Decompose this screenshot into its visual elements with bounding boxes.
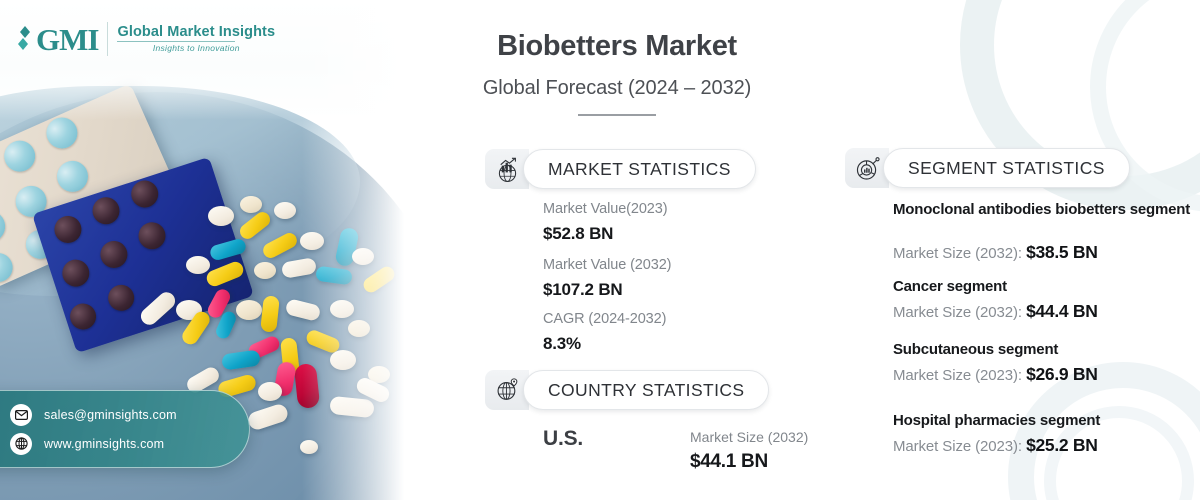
- country-statistics-pill: COUNTRY STATISTICS: [523, 370, 769, 410]
- segment-1-title: Cancer segment: [893, 278, 1193, 296]
- page-subtitle: Global Forecast (2024 – 2032): [452, 77, 782, 100]
- contact-email: sales@gminsights.com: [44, 408, 177, 422]
- country-name: U.S.: [543, 427, 583, 451]
- title-block: Biobetters Market Global Forecast (2024 …: [452, 30, 782, 116]
- segment-2-value: $26.9 BN: [1026, 364, 1098, 384]
- segment-0-title: Monoclonal antibodies biobetters segment: [893, 201, 1193, 219]
- contact-website-row[interactable]: www.gminsights.com: [10, 433, 229, 455]
- brand-name: Global Market Insights: [117, 25, 275, 41]
- contact-badge: sales@gminsights.com www.gminsights.com: [0, 390, 250, 468]
- logo-divider: [107, 22, 108, 56]
- page-title: Biobetters Market: [452, 30, 782, 63]
- market-value-2023-label: Market Value(2023): [543, 201, 667, 217]
- market-value-2032-label: Market Value (2032): [543, 257, 671, 273]
- infographic-canvas: sales@gminsights.com www.gminsights.com …: [0, 0, 1200, 500]
- market-statistics-pill: MARKET STATISTICS: [523, 149, 756, 189]
- segment-3-label: Market Size (2023):: [893, 438, 1026, 455]
- gmi-logo[interactable]: GMI Global Market Insights Insights to I…: [16, 22, 275, 56]
- cagr-value: 8.3%: [543, 334, 581, 354]
- segment-2-label: Market Size (2023):: [893, 367, 1026, 384]
- market-statistics-heading: MARKET STATISTICS: [548, 159, 731, 180]
- globe-icon: [10, 433, 32, 455]
- photo-right-fade: [302, 0, 452, 500]
- brand-rule: [117, 41, 235, 42]
- country-statistics-header: COUNTRY STATISTICS: [485, 370, 769, 410]
- segment-statistics-header: SEGMENT STATISTICS: [845, 148, 1130, 188]
- segment-1-label: Market Size (2032):: [893, 304, 1026, 321]
- gmi-logo-mark: GMI: [16, 24, 98, 55]
- market-value-2032-value: $107.2 BN: [543, 280, 622, 300]
- segment-statistics-pill: SEGMENT STATISTICS: [883, 148, 1130, 188]
- segment-2-line: Market Size (2023): $26.9 BN: [893, 364, 1098, 385]
- segment-1-line: Market Size (2032): $44.4 BN: [893, 301, 1098, 322]
- market-statistics-header: MARKET STATISTICS: [485, 149, 756, 189]
- contact-website: www.gminsights.com: [44, 437, 164, 451]
- country-statistics-heading: COUNTRY STATISTICS: [548, 380, 744, 401]
- gmi-wordmark: GMI: [36, 24, 98, 55]
- country-market-size-value: $44.1 BN: [690, 451, 768, 473]
- brand-tagline: Insights to Innovation: [117, 43, 275, 53]
- market-value-2023-value: $52.8 BN: [543, 224, 613, 244]
- segment-1-value: $44.4 BN: [1026, 301, 1098, 321]
- segment-3-value: $25.2 BN: [1026, 435, 1098, 455]
- segment-statistics-heading: SEGMENT STATISTICS: [908, 158, 1105, 179]
- cagr-label: CAGR (2024-2032): [543, 311, 666, 327]
- gmi-diamond-icon: [16, 24, 36, 54]
- segment-0-label: Market Size (2032):: [893, 245, 1026, 262]
- title-divider: [578, 114, 656, 116]
- segment-3-line: Market Size (2023): $25.2 BN: [893, 435, 1098, 456]
- envelope-icon: [10, 404, 32, 426]
- segment-2-title: Subcutaneous segment: [893, 341, 1193, 359]
- country-market-size-label: Market Size (2032): [690, 429, 808, 445]
- segment-3-title: Hospital pharmacies segment: [893, 412, 1193, 430]
- contact-email-row[interactable]: sales@gminsights.com: [10, 404, 229, 426]
- segment-0-value: $38.5 BN: [1026, 242, 1098, 262]
- segment-0-line: Market Size (2032): $38.5 BN: [893, 242, 1098, 263]
